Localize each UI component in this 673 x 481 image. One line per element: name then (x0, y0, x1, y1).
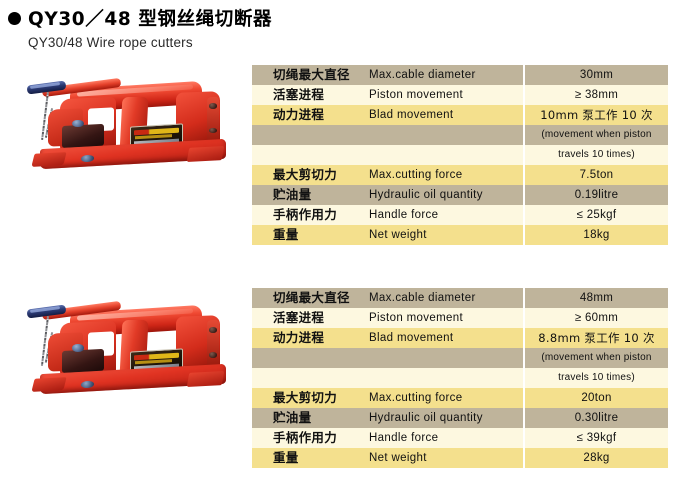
spec-label-cn: 动力进程 (252, 328, 369, 348)
spec-label-en: Max.cable diameter (369, 288, 524, 308)
tool-cutter-bolt-upper (209, 103, 217, 108)
spec-label-en: Handle force (369, 205, 524, 225)
table-row: 重量 Net weight 18kg (252, 225, 668, 245)
spec-value-note: (movement when piston (524, 125, 668, 145)
spec-value: 10mm 泵工作 10 次 (524, 105, 668, 125)
spec-label-cn: 重量 (252, 448, 369, 468)
spec-value: ≤ 25kgf (524, 205, 668, 225)
spec-value: ≥ 38mm (524, 85, 668, 105)
tool-base-foot-left (31, 152, 67, 167)
table-row: 动力进程 Blad movement 10mm 泵工作 10 次 (252, 105, 668, 125)
table-row: 最大剪切力 Max.cutting force 20ton (252, 388, 668, 408)
spec-label-en (369, 145, 524, 165)
table-row: 动力进程 Blad movement 8.8mm 泵工作 10 次 (252, 328, 668, 348)
spec-label-cn: 活塞进程 (252, 308, 369, 328)
table-row: 手柄作用力 Handle force ≤ 39kgf (252, 428, 668, 448)
wire-rope-cutter-illustration (14, 285, 246, 403)
product-photo-qy48 (14, 285, 246, 403)
table-row: 切绳最大直径 Max.cable diameter 30mm (252, 65, 668, 85)
tool-cutter-bolt-upper (209, 327, 217, 332)
spec-label-cn (252, 348, 369, 368)
spec-label-en: Handle force (369, 428, 524, 448)
spec-value: ≤ 39kgf (524, 428, 668, 448)
table-row: 手柄作用力 Handle force ≤ 25kgf (252, 205, 668, 225)
spec-label-cn: 动力进程 (252, 105, 369, 125)
spec-label-cn: 切绳最大直径 (252, 288, 369, 308)
spec-label-en: Max.cutting force (369, 388, 524, 408)
tool-mechanism-block (62, 349, 104, 374)
filled-circle-bullet-icon (8, 12, 21, 25)
spec-value: 0.30litre (524, 408, 668, 428)
spec-value-note: travels 10 times) (524, 368, 668, 388)
spec-label-cn: 贮油量 (252, 185, 369, 205)
spec-value: ≥ 60mm (524, 308, 668, 328)
spec-label-en (369, 348, 524, 368)
spec-label-en (369, 368, 524, 388)
page-title-en: QY30/48 Wire rope cutters (28, 35, 448, 50)
spec-label-cn: 手柄作用力 (252, 205, 369, 225)
spec-label-en: Piston movement (369, 308, 524, 328)
table-row: 活塞进程 Piston movement ≥ 38mm (252, 85, 668, 105)
spec-table-body: 切绳最大直径 Max.cable diameter 48mm 活塞进程 Pist… (252, 288, 668, 468)
tool-base-foot-left (31, 377, 67, 392)
spec-label-en: Hydraulic oil quantity (369, 185, 524, 205)
spec-value: 0.19litre (524, 185, 668, 205)
spec-value: 30mm (524, 65, 668, 85)
page-title-cn: QY30／48 型钢丝绳切断器 (28, 5, 272, 31)
spec-label-cn (252, 145, 369, 165)
spec-table-body: 切绳最大直径 Max.cable diameter 30mm 活塞进程 Pist… (252, 65, 668, 245)
tool-base-foot-right (187, 371, 224, 387)
spec-label-cn: 活塞进程 (252, 85, 369, 105)
table-row: 最大剪切力 Max.cutting force 7.5ton (252, 165, 668, 185)
spec-value: 8.8mm 泵工作 10 次 (524, 328, 668, 348)
spec-label-cn: 最大剪切力 (252, 165, 369, 185)
spec-value: 7.5ton (524, 165, 668, 185)
spec-label-en: Max.cable diameter (369, 65, 524, 85)
product-photo-qy30 (14, 62, 246, 177)
spec-value: 20ton (524, 388, 668, 408)
tool-cutter-bolt-lower (209, 128, 217, 133)
table-row: 贮油量 Hydraulic oil quantity 0.30litre (252, 408, 668, 428)
spec-table-qy30: 切绳最大直径 Max.cable diameter 30mm 活塞进程 Pist… (252, 65, 668, 245)
table-row: travels 10 times) (252, 368, 668, 388)
title-line: QY30／48 型钢丝绳切断器 (8, 6, 448, 30)
table-row: 切绳最大直径 Max.cable diameter 48mm (252, 288, 668, 308)
tool-head-bolt (72, 120, 84, 127)
table-row: 重量 Net weight 28kg (252, 448, 668, 468)
spec-label-en: Piston movement (369, 85, 524, 105)
tool-mechanism-block (62, 124, 104, 148)
table-row: travels 10 times) (252, 145, 668, 165)
tool-cutter-bolt-lower (209, 352, 217, 357)
table-row: (movement when piston (252, 348, 668, 368)
spec-label-cn (252, 125, 369, 145)
spec-label-cn: 贮油量 (252, 408, 369, 428)
wire-rope-cutter-illustration (14, 62, 246, 177)
spec-value-note: (movement when piston (524, 348, 668, 368)
spec-label-en: Net weight (369, 225, 524, 245)
spec-value: 18kg (524, 225, 668, 245)
spec-label-en: Blad movement (369, 105, 524, 125)
spec-label-en: Net weight (369, 448, 524, 468)
tool-head-bolt (72, 344, 84, 352)
spec-label-en (369, 125, 524, 145)
tool-base-foot-right (187, 146, 224, 162)
spec-value: 48mm (524, 288, 668, 308)
spec-table-qy48: 切绳最大直径 Max.cable diameter 48mm 活塞进程 Pist… (252, 288, 668, 468)
spec-label-en: Max.cutting force (369, 165, 524, 185)
table-row: 贮油量 Hydraulic oil quantity 0.19litre (252, 185, 668, 205)
spec-label-cn: 最大剪切力 (252, 388, 369, 408)
page-header: QY30／48 型钢丝绳切断器 QY30/48 Wire rope cutter… (8, 6, 448, 50)
spec-value: 28kg (524, 448, 668, 468)
product-spec-page: { "header": { "bullet": "filled-circle-b… (0, 0, 673, 481)
table-row: (movement when piston (252, 125, 668, 145)
spec-label-en: Blad movement (369, 328, 524, 348)
nameplate-brand-row (134, 352, 179, 360)
spec-label-cn: 重量 (252, 225, 369, 245)
spec-label-cn: 手柄作用力 (252, 428, 369, 448)
spec-label-cn: 切绳最大直径 (252, 65, 369, 85)
spec-label-cn (252, 368, 369, 388)
table-row: 活塞进程 Piston movement ≥ 60mm (252, 308, 668, 328)
spec-label-en: Hydraulic oil quantity (369, 408, 524, 428)
spec-value-note: travels 10 times) (524, 145, 668, 165)
